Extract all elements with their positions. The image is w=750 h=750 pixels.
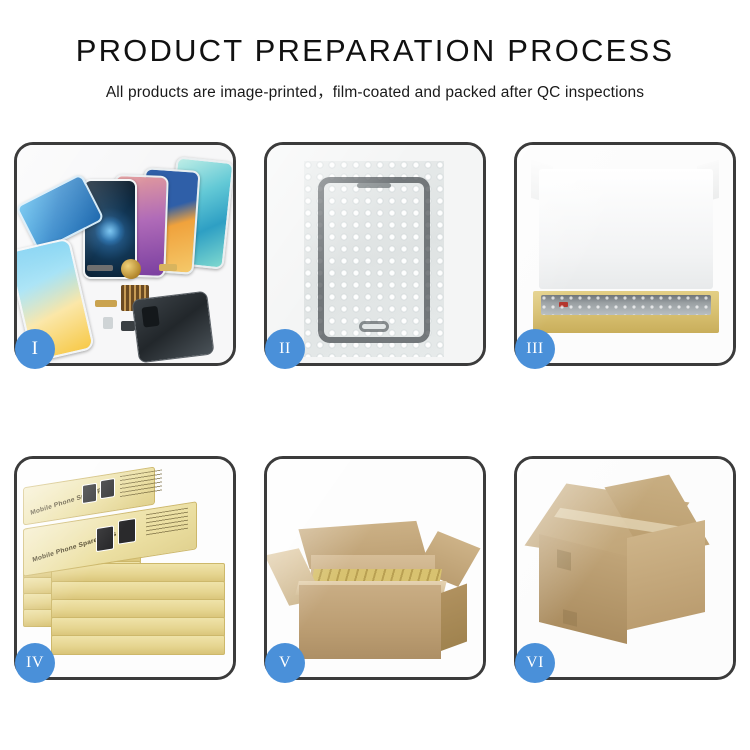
box-spec-lines [146, 508, 188, 537]
part-connector [121, 321, 135, 331]
part-vibration-motor [121, 259, 141, 279]
home-button [359, 321, 389, 332]
wrapped-screen-outline [318, 177, 430, 343]
red-label-mark [559, 302, 568, 307]
page-title: PRODUCT PREPARATION PROCESS [0, 34, 750, 69]
process-step-3: III [514, 142, 736, 366]
step-6-image [517, 459, 733, 677]
box-window-thumb [96, 525, 114, 552]
stack-layer [51, 581, 225, 601]
stack-layer [51, 635, 225, 655]
step-badge-1: I [15, 329, 55, 369]
part-back-housing [131, 291, 214, 363]
step-badge-2: II [265, 329, 305, 369]
step-badge-4: IV [15, 643, 55, 683]
carton-handle-hole-top [557, 549, 571, 570]
process-steps-grid: I II III [14, 142, 736, 680]
part-speaker-mesh [87, 265, 113, 271]
page-subtitle: All products are image-printed，film-coat… [0, 80, 750, 102]
bubble-wrap-sheet [304, 161, 444, 357]
part-flex-cable-1 [159, 264, 177, 271]
carton-side [441, 584, 467, 651]
wrapped-screen-in-box [541, 295, 711, 315]
carton-body [299, 585, 441, 659]
foam-padding [539, 169, 713, 289]
box-spec-lines [120, 469, 162, 498]
part-camera-module [103, 317, 113, 329]
process-step-2: II [264, 142, 486, 366]
box-stack: Mobile Phone Spare Parts Mobile Phone Sp… [23, 477, 229, 663]
stack-layer [51, 599, 225, 619]
box-window-thumb [82, 483, 97, 504]
page-header: PRODUCT PREPARATION PROCESS All products… [0, 0, 750, 102]
process-step-5: V [264, 456, 486, 680]
process-step-6: VI [514, 456, 736, 680]
carton-right-face [627, 520, 705, 630]
step-3-image [517, 145, 733, 363]
stack-layer [51, 617, 225, 637]
step-4-image: Mobile Phone Spare Parts Mobile Phone Sp… [17, 459, 233, 677]
step-badge-5: V [265, 643, 305, 683]
process-step-1: I [14, 142, 236, 366]
step-1-image [17, 145, 233, 363]
part-flex-cable-2 [95, 300, 117, 307]
step-2-image [267, 145, 483, 363]
step-badge-3: III [515, 329, 555, 369]
process-step-4: Mobile Phone Spare Parts Mobile Phone Sp… [14, 456, 236, 680]
step-5-image [267, 459, 483, 677]
box-window-thumb [118, 518, 136, 545]
kraft-box-body [533, 291, 719, 333]
step-badge-6: VI [515, 643, 555, 683]
box-window-thumb [100, 478, 115, 499]
